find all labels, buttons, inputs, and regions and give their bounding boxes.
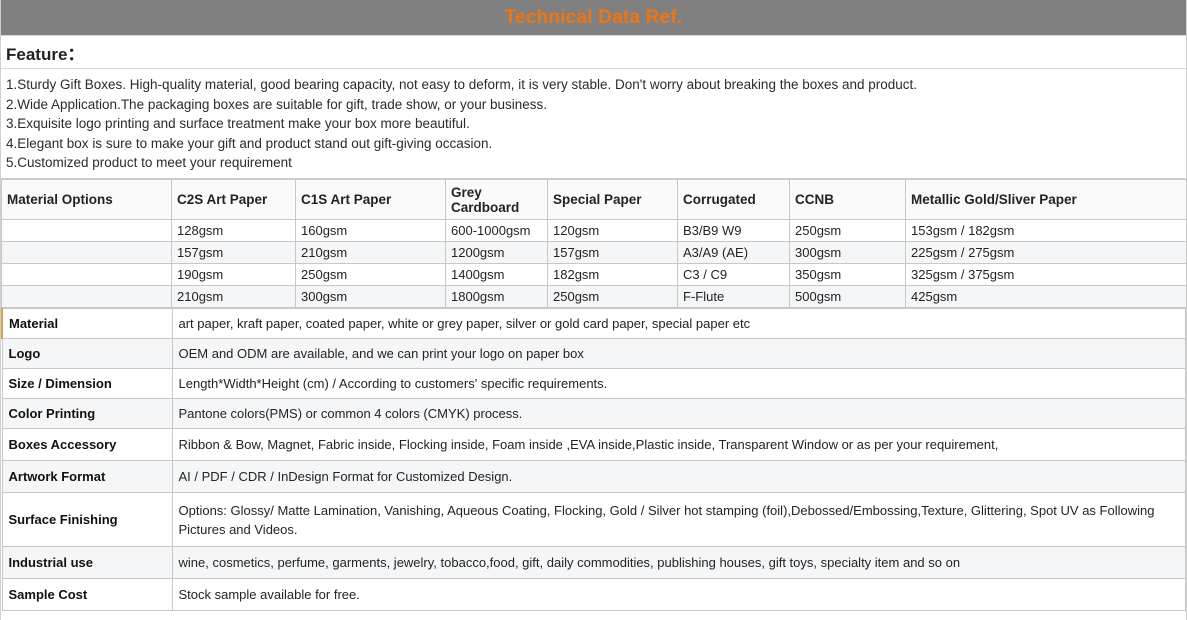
cell-metallic: 225gsm / 275gsm: [906, 242, 1187, 264]
cell-c2s: 128gsm: [172, 220, 296, 242]
detail-row-material: Material art paper, kraft paper, coated …: [2, 309, 1186, 339]
cell-ccnb: 250gsm: [790, 220, 906, 242]
feature-heading-row: Feature：: [1, 36, 1186, 69]
detail-value: OEM and ODM are available, and we can pr…: [172, 339, 1186, 369]
detail-value: Stock sample available for free.: [172, 579, 1186, 611]
title-bar: Technical Data Ref.: [1, 0, 1186, 36]
specification-detail-table: Material art paper, kraft paper, coated …: [1, 308, 1186, 611]
cell-metallic: 425gsm: [906, 286, 1187, 308]
page-title: Technical Data Ref.: [505, 8, 683, 27]
detail-value: AI / PDF / CDR / InDesign Format for Cus…: [172, 461, 1186, 493]
detail-label: Industrial use: [2, 547, 172, 579]
cell-c1s: 210gsm: [296, 242, 446, 264]
cell-metallic: 153gsm / 182gsm: [906, 220, 1187, 242]
detail-value: Options: Glossy/ Matte Lamination, Vanis…: [172, 493, 1186, 547]
detail-row-boxes-accessory: Boxes Accessory Ribbon & Bow, Magnet, Fa…: [2, 429, 1186, 461]
feature-heading: Feature：: [6, 40, 84, 65]
cell-corrugated: C3 / C9: [678, 264, 790, 286]
cell-c1s: 250gsm: [296, 264, 446, 286]
detail-label: Logo: [2, 339, 172, 369]
column-header-c2s-art-paper: C2S Art Paper: [172, 180, 296, 220]
cell-corrugated: B3/B9 W9: [678, 220, 790, 242]
material-options-table: Material Options C2S Art Paper C1S Art P…: [1, 179, 1187, 308]
cell-ccnb: 500gsm: [790, 286, 906, 308]
detail-value: art paper, kraft paper, coated paper, wh…: [172, 309, 1186, 339]
column-header-c1s-art-paper: C1S Art Paper: [296, 180, 446, 220]
feature-line: 1.Sturdy Gift Boxes. High-quality materi…: [6, 75, 1181, 95]
feature-line: 2.Wide Application.The packaging boxes a…: [6, 95, 1181, 115]
detail-label: Boxes Accessory: [2, 429, 172, 461]
detail-label: Sample Cost: [2, 579, 172, 611]
detail-row-industrial-use: Industrial use wine, cosmetics, perfume,…: [2, 547, 1186, 579]
cell-grey: 1200gsm: [446, 242, 548, 264]
detail-row-surface-finishing: Surface Finishing Options: Glossy/ Matte…: [2, 493, 1186, 547]
detail-label: Surface Finishing: [2, 493, 172, 547]
detail-row-color-printing: Color Printing Pantone colors(PMS) or co…: [2, 399, 1186, 429]
feature-line: 5.Customized product to meet your requir…: [6, 153, 1181, 173]
cell-special: 120gsm: [548, 220, 678, 242]
detail-label: Material: [2, 309, 172, 339]
cell-c1s: 300gsm: [296, 286, 446, 308]
feature-line: 4.Elegant box is sure to make your gift …: [6, 134, 1181, 154]
cell-corrugated: F-Flute: [678, 286, 790, 308]
cell-material-options: [2, 286, 172, 308]
detail-value: Length*Width*Height (cm) / According to …: [172, 369, 1186, 399]
cell-c1s: 160gsm: [296, 220, 446, 242]
cell-grey: 1800gsm: [446, 286, 548, 308]
detail-row-logo: Logo OEM and ODM are available, and we c…: [2, 339, 1186, 369]
table-row: 128gsm 160gsm 600-1000gsm 120gsm B3/B9 W…: [2, 220, 1187, 242]
detail-label: Artwork Format: [2, 461, 172, 493]
detail-value: Pantone colors(PMS) or common 4 colors (…: [172, 399, 1186, 429]
detail-row-artwork-format: Artwork Format AI / PDF / CDR / InDesign…: [2, 461, 1186, 493]
detail-label: Color Printing: [2, 399, 172, 429]
detail-value: Ribbon & Bow, Magnet, Fabric inside, Flo…: [172, 429, 1186, 461]
cell-special: 250gsm: [548, 286, 678, 308]
column-header-corrugated: Corrugated: [678, 180, 790, 220]
table-row: 157gsm 210gsm 1200gsm 157gsm A3/A9 (AE) …: [2, 242, 1187, 264]
cell-c2s: 210gsm: [172, 286, 296, 308]
cell-material-options: [2, 242, 172, 264]
table-row: 190gsm 250gsm 1400gsm 182gsm C3 / C9 350…: [2, 264, 1187, 286]
feature-list: 1.Sturdy Gift Boxes. High-quality materi…: [1, 69, 1186, 179]
cell-material-options: [2, 220, 172, 242]
table-row: 210gsm 300gsm 1800gsm 250gsm F-Flute 500…: [2, 286, 1187, 308]
detail-row-sample-cost: Sample Cost Stock sample available for f…: [2, 579, 1186, 611]
cell-ccnb: 350gsm: [790, 264, 906, 286]
detail-label: Size / Dimension: [2, 369, 172, 399]
cell-corrugated: A3/A9 (AE): [678, 242, 790, 264]
detail-row-size-dimension: Size / Dimension Length*Width*Height (cm…: [2, 369, 1186, 399]
feature-line: 3.Exquisite logo printing and surface tr…: [6, 114, 1181, 134]
cell-c2s: 190gsm: [172, 264, 296, 286]
column-header-metallic-paper: Metallic Gold/Sliver Paper: [906, 180, 1187, 220]
cell-c2s: 157gsm: [172, 242, 296, 264]
cell-ccnb: 300gsm: [790, 242, 906, 264]
detail-value: wine, cosmetics, perfume, garments, jewe…: [172, 547, 1186, 579]
column-header-ccnb: CCNB: [790, 180, 906, 220]
cell-grey: 1400gsm: [446, 264, 548, 286]
cell-metallic: 325gsm / 375gsm: [906, 264, 1187, 286]
column-header-special-paper: Special Paper: [548, 180, 678, 220]
cell-grey: 600-1000gsm: [446, 220, 548, 242]
technical-data-sheet: Technical Data Ref. Feature： 1.Sturdy Gi…: [0, 0, 1187, 620]
cell-material-options: [2, 264, 172, 286]
cell-special: 182gsm: [548, 264, 678, 286]
cell-special: 157gsm: [548, 242, 678, 264]
column-header-grey-cardboard: Grey Cardboard: [446, 180, 548, 220]
table-header-row: Material Options C2S Art Paper C1S Art P…: [2, 180, 1187, 220]
column-header-material-options: Material Options: [2, 180, 172, 220]
